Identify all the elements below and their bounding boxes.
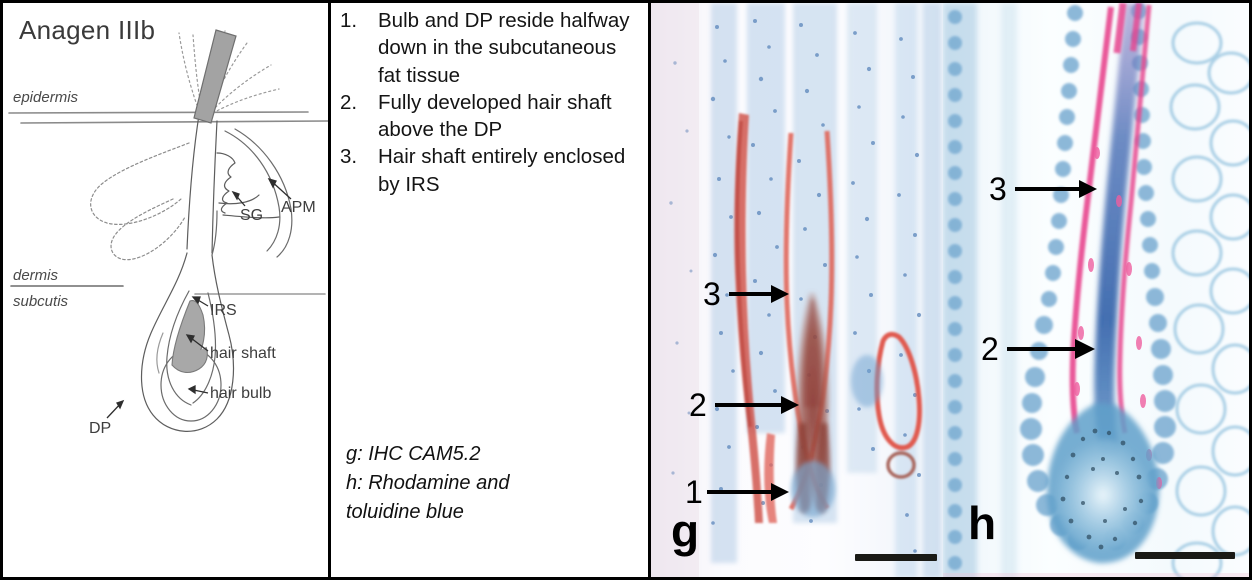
- panel-letter-g: g: [671, 508, 699, 554]
- callout-1: 1: [685, 477, 793, 507]
- dermis-label: dermis: [13, 267, 58, 284]
- figure-anagen-iiib: Anagen IIIb epidermis dermis subcutis SG…: [0, 0, 1252, 580]
- list-item: 1. Bulb and DP reside halfway down in th…: [340, 7, 640, 89]
- callout-2: 2: [981, 334, 1097, 364]
- hair-shaft-label: hair shaft: [210, 345, 276, 363]
- arrow-right-icon: [989, 174, 1101, 204]
- stain-caption-line-h: h: Rhodamine and: [346, 469, 640, 498]
- sg-label: SG: [240, 207, 263, 225]
- dp-label: DP: [89, 420, 111, 438]
- panel-letter-h: h: [968, 500, 996, 546]
- panel-text: 1. Bulb and DP reside halfway down in th…: [331, 0, 651, 580]
- scale-bar-g: [855, 554, 937, 561]
- panel-diagram: Anagen IIIb epidermis dermis subcutis SG…: [0, 0, 331, 580]
- scale-bar-h: [1135, 552, 1235, 559]
- list-item: 2. Fully developed hair shaft above the …: [340, 89, 640, 144]
- stain-caption-line-h2: toluidine blue: [346, 498, 640, 527]
- hair-bulb-label: hair bulb: [210, 385, 271, 403]
- hair-shaft-emerging: [194, 30, 236, 123]
- callout-2: 2: [689, 390, 804, 420]
- panel-micrograph-g: 3 2 1 g: [651, 0, 943, 580]
- arrow-right-icon: [685, 477, 793, 507]
- epidermis-label: epidermis: [13, 89, 78, 106]
- callout-3: 3: [703, 279, 793, 309]
- list-item-text: Fully developed hair shaft above the DP: [378, 89, 640, 144]
- list-item-text: Hair shaft entirely enclosed by IRS: [378, 143, 640, 198]
- diagram-title: Anagen IIIb: [19, 15, 155, 46]
- stain-caption-line-g: g: IHC CAM5.2: [346, 440, 640, 469]
- panel-micrograph-h: 3 2 h: [943, 0, 1252, 580]
- arrow-right-icon: [981, 334, 1097, 364]
- list-item-number: 3.: [340, 143, 378, 198]
- list-item-number: 2.: [340, 89, 378, 144]
- micrograph-h-image: [943, 3, 1252, 580]
- arrow-right-icon: [703, 279, 793, 309]
- irs-label: IRS: [210, 302, 237, 320]
- stain-caption: g: IHC CAM5.2 h: Rhodamine and toluidine…: [346, 440, 640, 527]
- feature-list: 1. Bulb and DP reside halfway down in th…: [340, 7, 640, 198]
- arrow-right-icon: [689, 390, 804, 420]
- subcutis-label: subcutis: [13, 293, 68, 310]
- list-item-text: Bulb and DP reside halfway down in the s…: [378, 7, 640, 89]
- callout-3: 3: [989, 174, 1101, 204]
- list-item: 3. Hair shaft entirely enclosed by IRS: [340, 143, 640, 198]
- list-item-number: 1.: [340, 7, 378, 89]
- apm-label: APM: [281, 199, 316, 217]
